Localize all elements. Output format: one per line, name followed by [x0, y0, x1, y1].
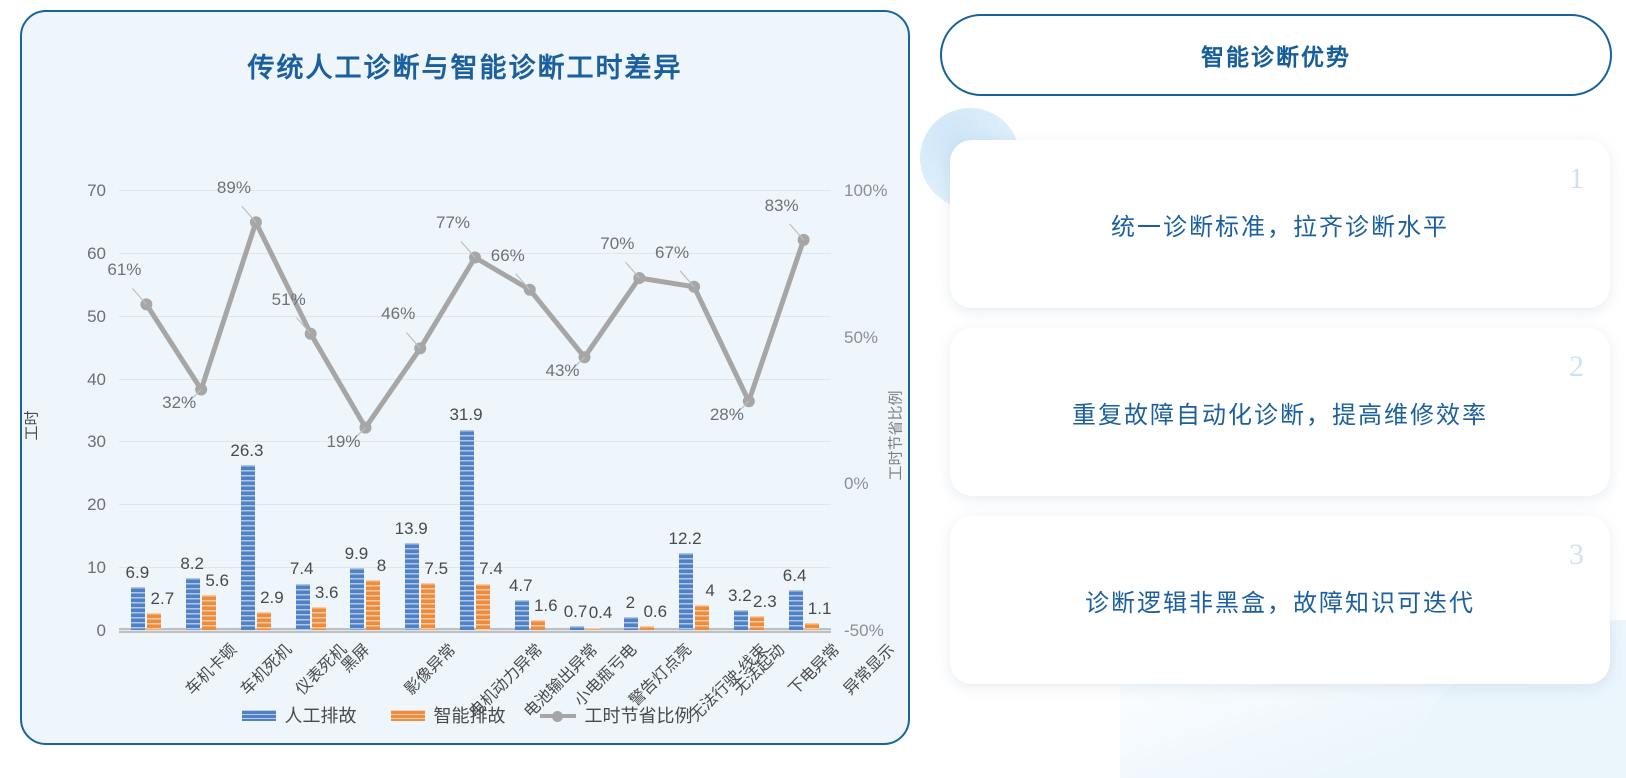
- legend-label-smart: 智能排故: [434, 702, 506, 728]
- gridline: [119, 630, 831, 631]
- y-axis-tick: 70: [73, 181, 119, 201]
- chart-card: 传统人工诊断与智能诊断工时差异 工时 工时节省比例 01020304050607…: [20, 10, 910, 745]
- slide-root: 传统人工诊断与智能诊断工时差异 工时 工时节省比例 01020304050607…: [0, 0, 1626, 778]
- y-axis-tick: 0: [73, 621, 119, 641]
- y2-axis-tick: 0%: [831, 474, 901, 494]
- line-point-label: 43%: [546, 361, 580, 381]
- line-point-label: 51%: [272, 290, 306, 310]
- y2-axis-tick: -50%: [831, 621, 901, 641]
- legend-line-marker-icon: [540, 710, 576, 721]
- x-axis-label: 车机卡顿: [179, 637, 241, 699]
- y-axis-title: 工时: [21, 410, 42, 440]
- y-axis-tick: 10: [73, 558, 119, 578]
- line-point-label: 77%: [436, 213, 470, 233]
- legend-item-manual[interactable]: 人工排故: [242, 702, 357, 728]
- advantage-text-3: 诊断逻辑非黑盒，故障知识可迭代: [1085, 583, 1475, 618]
- y-axis-tick: 40: [73, 370, 119, 390]
- advantage-number-2: 2: [1569, 350, 1584, 384]
- x-axis-label: 仪表死机: [289, 637, 351, 699]
- legend-swatch-manual-icon: [242, 710, 276, 721]
- y-axis-tick: 30: [73, 432, 119, 452]
- line-point-label: 66%: [491, 246, 525, 266]
- legend-label-saving-ratio: 工时节省比例: [585, 702, 693, 728]
- y-axis-tick: 50: [73, 307, 119, 327]
- line-point-label: 19%: [326, 432, 360, 452]
- chart-legend: 人工排故 智能排故 工时节省比例: [22, 702, 912, 728]
- line-point-label: 67%: [655, 243, 689, 263]
- legend-item-smart[interactable]: 智能排故: [391, 702, 506, 728]
- advantage-card-2[interactable]: 2 重复故障自动化诊断，提高维修效率: [950, 328, 1610, 496]
- line-point-label: 28%: [710, 405, 744, 425]
- line-point-label: 46%: [381, 304, 415, 324]
- advantage-text-1: 统一诊断标准，拉齐诊断水平: [1111, 207, 1449, 242]
- advantages-header-title: 智能诊断优势: [1201, 38, 1351, 72]
- chart-title: 传统人工诊断与智能诊断工时差异: [22, 46, 908, 85]
- line-point-label: 70%: [600, 234, 634, 254]
- legend-label-manual: 人工排故: [285, 702, 357, 728]
- line-point-label: 83%: [765, 196, 799, 216]
- advantage-text-2: 重复故障自动化诊断，提高维修效率: [1072, 395, 1488, 430]
- advantages-panel: 智能诊断优势 1 统一诊断标准，拉齐诊断水平 2 重复故障自动化诊断，提高维修效…: [940, 14, 1612, 764]
- advantage-card-3[interactable]: 3 诊断逻辑非黑盒，故障知识可迭代: [950, 516, 1610, 684]
- plot-area: 010203040506070-50%0%50%100%6.92.78.25.6…: [119, 190, 831, 630]
- line-point-label: 32%: [162, 393, 196, 413]
- legend-swatch-smart-icon: [391, 710, 425, 721]
- line-point-label: 89%: [217, 178, 251, 198]
- x-axis-label: 异常显示: [836, 637, 898, 699]
- x-axis-label: 下电异常: [782, 637, 844, 699]
- x-axis-label: 车机死机: [234, 637, 296, 699]
- line-point-label: 61%: [107, 260, 141, 280]
- advantage-number-1: 1: [1569, 162, 1584, 196]
- y-axis-tick: 20: [73, 495, 119, 515]
- advantage-card-1[interactable]: 1 统一诊断标准，拉齐诊断水平: [950, 140, 1610, 308]
- y2-axis-title: 工时节省比例: [885, 390, 906, 480]
- x-axis-label: 影像异常: [398, 637, 460, 699]
- y2-axis-tick: 50%: [831, 328, 901, 348]
- advantage-number-3: 3: [1569, 538, 1584, 572]
- legend-item-saving-ratio[interactable]: 工时节省比例: [540, 702, 693, 728]
- chart-plot-wrapper: 工时 工时节省比例 010203040506070-50%0%50%100%6.…: [22, 85, 912, 725]
- advantages-header: 智能诊断优势: [940, 14, 1612, 96]
- y2-axis-tick: 100%: [831, 181, 901, 201]
